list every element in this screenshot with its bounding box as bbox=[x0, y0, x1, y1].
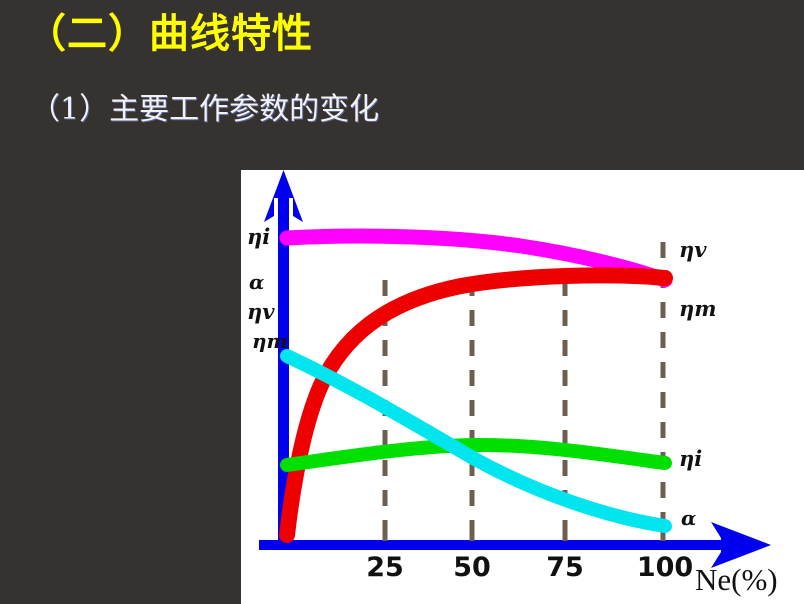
x-tick-marks bbox=[385, 522, 663, 541]
x-tick-label-50: 50 bbox=[453, 554, 491, 581]
page-title: （二）曲线特性 bbox=[26, 14, 313, 54]
y-axis-label-eta-i: ηi bbox=[247, 226, 270, 247]
series-label-eta-m: ηm bbox=[679, 298, 717, 319]
slide-canvas: （二）曲线特性 （1）主要工作参数的变化 bbox=[0, 0, 804, 604]
x-axis-title: Ne(%) bbox=[695, 564, 778, 595]
chart-plot-svg bbox=[241, 170, 804, 604]
y-axis-label-eta-m: ηm bbox=[252, 331, 288, 351]
series-label-eta-v: ηv bbox=[679, 239, 706, 260]
x-tick-label-75: 75 bbox=[546, 554, 584, 581]
page-subtitle: （1）主要工作参数的变化 bbox=[30, 95, 379, 125]
series-label-eta-i: ηi bbox=[679, 448, 702, 469]
y-axis-label-eta-v: ηv bbox=[247, 301, 274, 322]
x-tick-label-100: 100 bbox=[637, 554, 693, 581]
chart-panel: ηi α ηv ηm ηv ηm ηi α 25 50 75 100 Ne(%) bbox=[241, 170, 804, 604]
series-label-alpha: α bbox=[681, 508, 696, 528]
curve-eta-m bbox=[287, 275, 665, 535]
y-axis-label-alpha: α bbox=[249, 272, 264, 292]
x-tick-label-25: 25 bbox=[366, 554, 404, 581]
